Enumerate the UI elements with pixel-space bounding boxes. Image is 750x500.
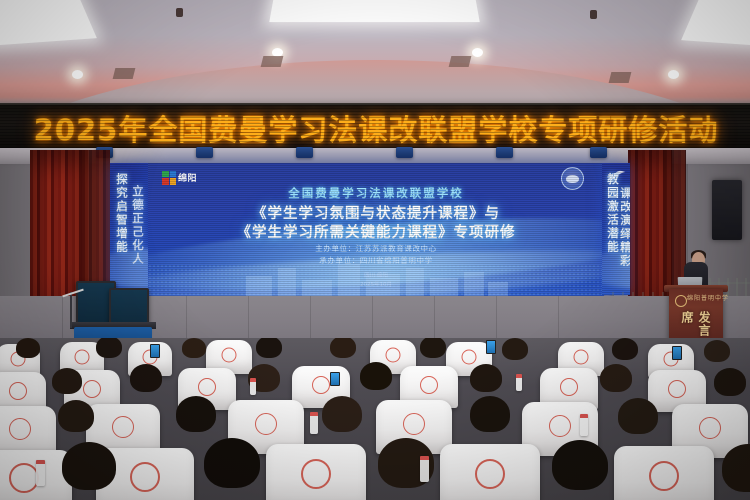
audience-head: [704, 340, 730, 362]
stage-light-fixture: [296, 147, 313, 158]
screen-location: 四川·绵阳: [148, 272, 604, 281]
recessed-downlight: [668, 70, 679, 79]
audience-seat: [440, 444, 540, 500]
side-led-banner-right: 教园激活潜能 课改演绎精彩: [602, 163, 630, 295]
ceiling: [0, 0, 750, 118]
recessed-downlight: [472, 48, 483, 57]
audience-phone: [486, 340, 496, 354]
screen-date: 2025年10月: [148, 281, 604, 290]
crest-inner-shape: [566, 175, 579, 183]
sponsor-logo-left: 绵阳: [162, 170, 208, 185]
audience-phone: [330, 372, 340, 386]
sponsor-logo-text: 绵阳: [178, 171, 197, 184]
stage-light-fixture: [496, 147, 513, 158]
led-marquee-banner: 2025年全国费曼学习法课改联盟学校专项研修活动: [0, 103, 750, 154]
audience-head: [612, 338, 638, 360]
water-bottle: [516, 374, 522, 391]
water-bottle: [250, 378, 256, 395]
microphone-stand: [70, 292, 72, 328]
smoke-detector: [176, 8, 183, 17]
water-bottle: [420, 456, 429, 482]
audience-head: [62, 442, 116, 490]
screen-location-block: 四川·绵阳 2025年10月: [148, 272, 604, 290]
banner-swoosh: [110, 249, 150, 289]
water-bottle: [580, 414, 588, 436]
audio-speaker-stack: [712, 180, 742, 240]
main-led-screen: 绵阳 全国费曼学习法课改联盟学校 《学生学习氛围与状态提升课程》与 《学生学习所…: [148, 163, 604, 298]
water-bottle: [310, 412, 318, 434]
audience-head: [470, 396, 510, 432]
audience-head: [256, 338, 282, 358]
ceiling-panel-light: [0, 0, 97, 46]
audience-head: [52, 368, 82, 394]
school-emblem-icon: [675, 295, 687, 307]
bird-graphic-icon: [613, 169, 626, 179]
air-vent: [609, 72, 632, 83]
screen-organizer-block: 主办单位：江苏苏派教育课改中心 承办单位：四川省绵阳普明中学: [148, 243, 604, 267]
conference-hall-scene: 2025年全国费曼学习法课改联盟学校专项研修活动 探究启智增能 立德正己化人: [0, 0, 750, 500]
audience-head: [58, 400, 94, 432]
stage-light-fixture: [396, 147, 413, 158]
audience-head: [470, 364, 502, 392]
logo-square-icon: [162, 171, 176, 185]
audience-head: [502, 338, 528, 360]
audience-head: [600, 364, 632, 392]
marquee-text: 2025年全国费曼学习法课改联盟学校专项研修活动: [33, 107, 719, 149]
air-vent: [113, 68, 136, 79]
screen-title-line-2: 《学生学习所需关键能力课程》专项研修: [148, 224, 604, 243]
audience-head: [552, 440, 608, 490]
ceiling-panel-light: [269, 0, 479, 22]
recessed-downlight: [72, 70, 83, 79]
audience-head: [182, 338, 206, 358]
audience-seating-area: [0, 338, 750, 500]
stage-light-fixture: [590, 147, 607, 158]
screen-title-line-1: 《学生学习氛围与状态提升课程》与: [148, 205, 604, 224]
stage-light-fixture: [196, 147, 213, 158]
audience-head: [420, 338, 446, 358]
ceiling-panel-light: [681, 0, 750, 48]
side-led-banner-left: 探究启智增能 立德正己化人: [110, 163, 150, 295]
screen-heading: 全国费曼学习法课改联盟学校: [148, 185, 604, 201]
banner-swoosh: [602, 249, 630, 289]
side-banner-right-inner-text: 课改演绎精彩: [618, 187, 630, 268]
podium-plate-text: 绵阳普明中学: [687, 293, 729, 302]
audience-head: [130, 364, 162, 392]
audience-head: [360, 362, 392, 390]
audience-head: [714, 368, 746, 396]
audience-seat: [266, 444, 366, 500]
smoke-detector: [590, 10, 597, 19]
audience-head: [330, 338, 356, 358]
audience-head: [16, 338, 40, 358]
organizer-host: 主办单位：江苏苏派教育课改中心: [148, 243, 604, 255]
audience-phone: [150, 344, 160, 358]
side-banner-left-outer-text: 探究启智增能: [114, 173, 130, 254]
audience-head: [204, 438, 260, 488]
air-vent: [261, 56, 284, 67]
audience-head: [322, 396, 362, 432]
audience-head: [176, 396, 216, 432]
audience-phone: [672, 346, 682, 360]
audience-seat: [614, 446, 714, 500]
audience-head: [618, 398, 658, 434]
air-vent: [449, 56, 472, 67]
side-banner-right-outer-text: 教园激活潜能: [605, 173, 621, 254]
audience-head: [96, 338, 122, 358]
organizer-coorganizer: 承办单位：四川省绵阳普明中学: [148, 255, 604, 267]
side-banner-left-inner-text: 立德正己化人: [130, 185, 146, 266]
screen-title-block: 全国费曼学习法课改联盟学校 《学生学习氛围与状态提升课程》与 《学生学习所需关键…: [148, 185, 604, 243]
water-bottle: [36, 460, 45, 486]
